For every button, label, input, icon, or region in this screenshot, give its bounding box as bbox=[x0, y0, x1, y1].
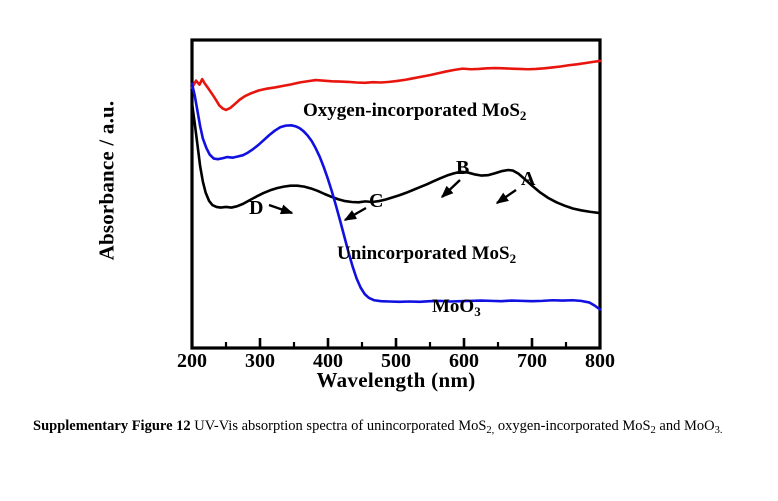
peak-label-a: A bbox=[521, 168, 535, 191]
x-tick-label-400: 400 bbox=[298, 350, 358, 373]
arrow-to-peak-b bbox=[442, 180, 460, 197]
caption-tail: and MoO bbox=[656, 418, 715, 434]
x-tick-label-600: 600 bbox=[434, 350, 494, 373]
series-label-oxygen-incorporated-mos2: Oxygen-incorporated MoS2 bbox=[303, 100, 526, 122]
x-tick-label-300: 300 bbox=[230, 350, 290, 373]
x-tick-label-700: 700 bbox=[502, 350, 562, 373]
series-label-moo3: MoO3 bbox=[432, 296, 481, 318]
peak-label-b: B bbox=[456, 157, 469, 180]
series-label-subscript: 3 bbox=[474, 304, 481, 319]
series-label-text: Oxygen-incorporated MoS bbox=[303, 100, 520, 121]
series-label-text: Unincorporated MoS bbox=[337, 243, 510, 264]
caption-sub-1: 2, bbox=[486, 425, 494, 436]
caption-lead: Supplementary Figure 12 bbox=[33, 418, 191, 434]
x-tick-label-800: 800 bbox=[570, 350, 630, 373]
x-tick-label-500: 500 bbox=[366, 350, 426, 373]
arrow-to-peak-d bbox=[269, 205, 292, 213]
series-label-unincorporated-mos2: Unincorporated MoS2 bbox=[337, 243, 516, 265]
caption-sub-2: 2 bbox=[651, 425, 656, 436]
peak-label-c: C bbox=[369, 190, 383, 213]
caption-body: UV-Vis absorption spectra of unincorpora… bbox=[191, 418, 487, 434]
figure-area: Absorbance / a.u. Wavelength (nm) 200300… bbox=[0, 0, 778, 400]
caption-sub-3: 3. bbox=[715, 425, 723, 436]
peak-label-d: D bbox=[249, 197, 263, 220]
x-tick-label-200: 200 bbox=[162, 350, 222, 373]
figure-caption: Supplementary Figure 12 UV-Vis absorptio… bbox=[33, 412, 745, 442]
series-label-text: MoO bbox=[432, 296, 474, 317]
arrow-to-peak-a bbox=[497, 190, 516, 203]
y-axis-title: Absorbance / a.u. bbox=[95, 51, 120, 311]
arrow-to-peak-c bbox=[345, 208, 366, 220]
spectra-curves bbox=[192, 61, 600, 310]
series-label-subscript: 2 bbox=[520, 108, 527, 123]
caption-mid: oxygen-incorporated MoS bbox=[494, 418, 650, 434]
series-label-subscript: 2 bbox=[510, 251, 517, 266]
